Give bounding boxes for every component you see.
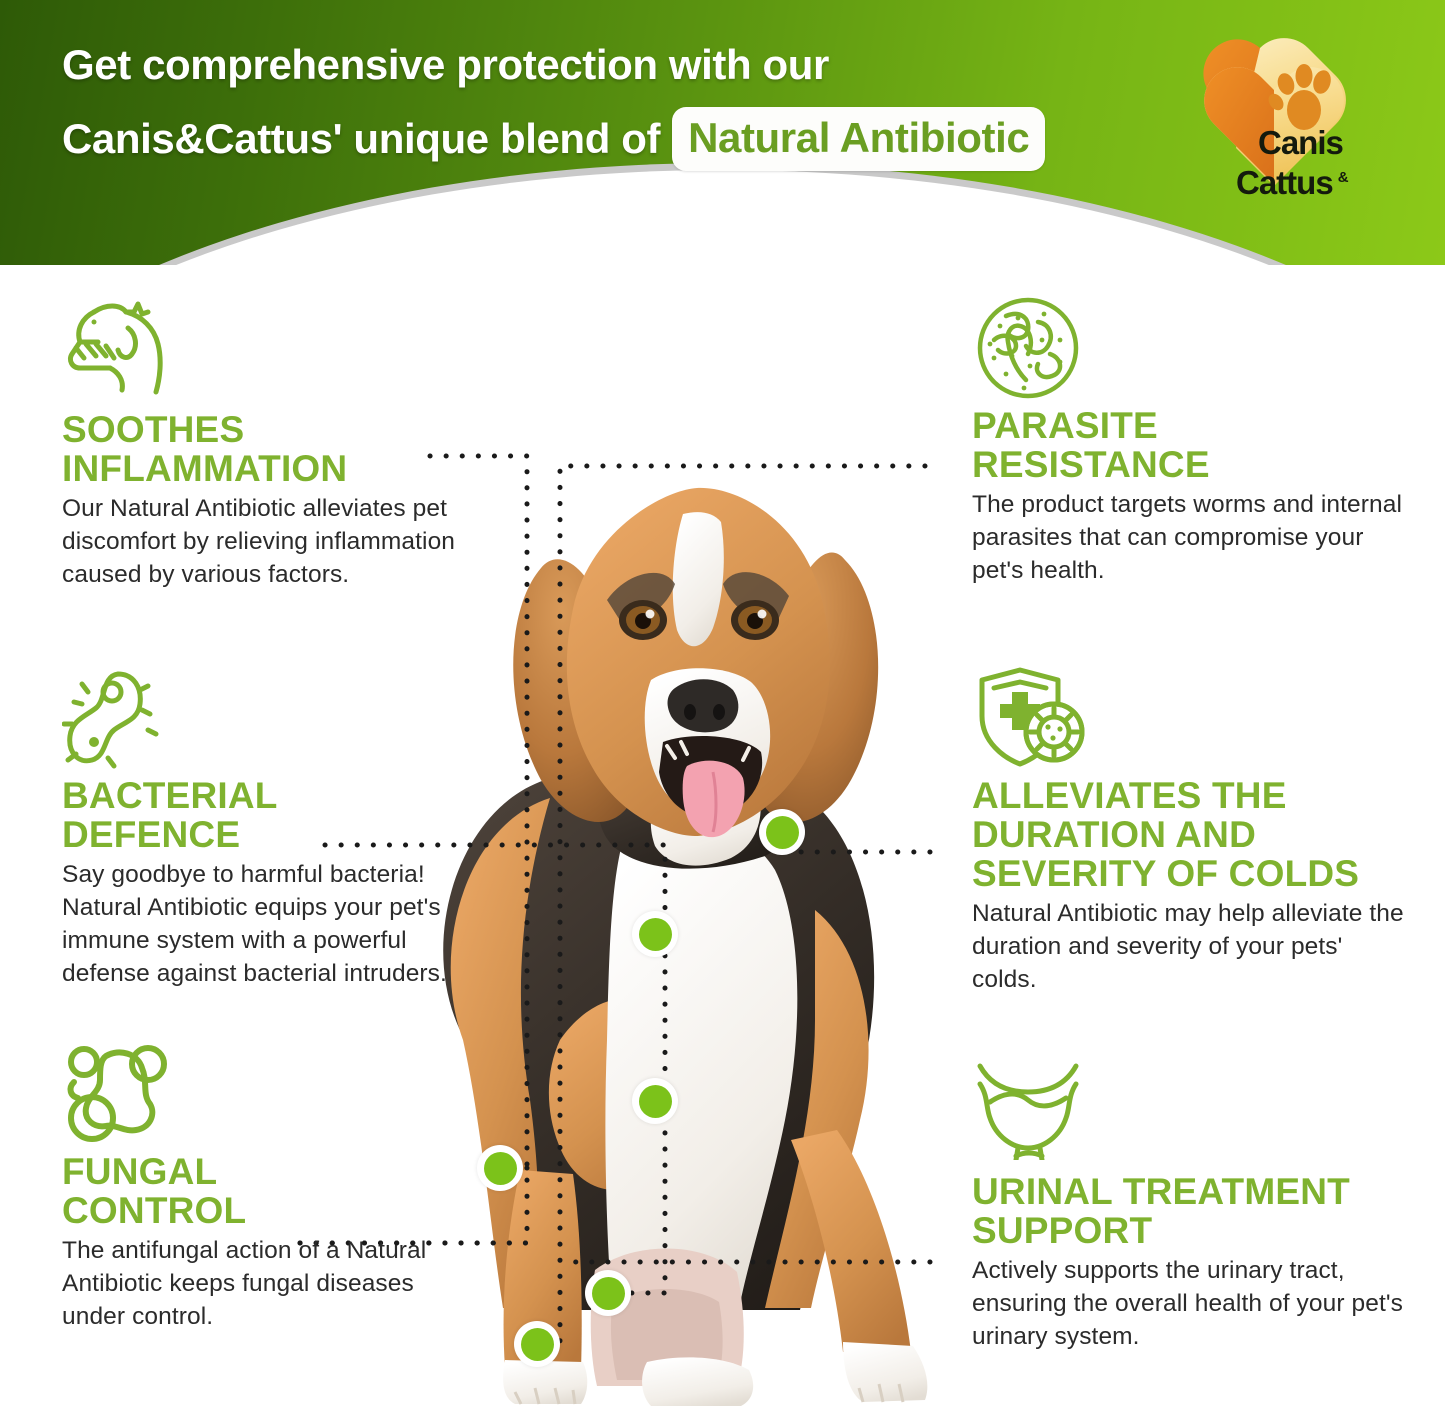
page-title-line-2-prefix: Canis&Cattus' unique blend of [62,102,660,176]
feature-title-line-1: BACTERIAL [62,775,278,816]
feature-title-line-2: INFLAMMATION [62,448,347,489]
marker-dot-core [639,1085,672,1118]
marker-groin [585,1270,631,1316]
brand-name-line-1: Canis [1258,124,1343,161]
marker-dot-core [484,1152,517,1185]
feature-body: The antifungal action of a Natural Antib… [62,1234,462,1333]
marker-dot-core [521,1328,554,1361]
feature-title-line-2: SUPPORT [972,1210,1152,1251]
feature-alleviates-colds: ALLEVIATES THE DURATION AND SEVERITY OF … [972,666,1412,996]
natural-antibiotic-highlight: Natural Antibiotic [672,107,1045,171]
marker-chest-mid [632,911,678,957]
feature-title: PARASITE RESISTANCE [972,406,1412,484]
bacteria-icon [62,666,462,770]
marker-chest-upper [759,809,805,855]
brand-logo-text: Canis Cattus& [1258,126,1433,199]
feature-body: Actively supports the urinary tract, ens… [972,1254,1412,1353]
feature-parasite-resistance: PARASITE RESISTANCE The product targets … [972,296,1412,587]
brand-name-line-2: Cattus [1236,164,1333,201]
marker-dot-core [592,1277,625,1310]
feature-body: Say goodbye to harmful bacteria! Natural… [62,858,462,990]
feature-body: Natural Antibiotic may help alleviate th… [972,897,1412,996]
feature-title-line-2: CONTROL [62,1190,246,1231]
feature-title-line-1: URINAL TREATMENT [972,1171,1350,1212]
marker-dot-core [766,816,799,849]
brand-name-line-2-wrap: Cattus& [1236,161,1433,199]
feature-title-line-3: SEVERITY OF COLDS [972,853,1359,894]
feature-title-line-2: RESISTANCE [972,444,1210,485]
feature-body: Our Natural Antibiotic alleviates pet di… [62,492,462,591]
page-title-line-2: Canis&Cattus' unique blend of Natural An… [62,102,1192,176]
marker-hind-leg [477,1145,523,1191]
feature-bacterial-defence: BACTERIAL DEFENCE Say goodbye to harmful… [62,666,462,990]
marker-dot-core [639,918,672,951]
feature-title: BACTERIAL DEFENCE [62,776,462,854]
feature-title-line-2: DURATION AND [972,814,1256,855]
brand-ampersand: & [1338,169,1348,186]
dog-bandaged-leg-icon [62,300,462,404]
feature-title: FUNGAL CONTROL [62,1152,462,1230]
shield-virus-icon [972,666,1412,770]
marker-paw [514,1321,560,1367]
feature-title-line-2: DEFENCE [62,814,240,855]
feature-body: The product targets worms and internal p… [972,488,1412,587]
feature-urinal-treatment-support: URINAL TREATMENT SUPPORT Actively suppor… [972,1062,1412,1353]
feature-title: ALLEVIATES THE DURATION AND SEVERITY OF … [972,776,1412,893]
header-banner: Get comprehensive protection with our Ca… [0,0,1445,265]
header-title-block: Get comprehensive protection with our Ca… [62,28,1192,176]
feature-title-line-1: PARASITE [972,405,1158,446]
marker-belly [632,1078,678,1124]
feature-title-line-1: FUNGAL [62,1151,217,1192]
feature-fungal-control: FUNGAL CONTROL The antifungal action of … [62,1042,462,1333]
bladder-icon [972,1062,1412,1166]
feature-title: SOOTHES INFLAMMATION [62,410,462,488]
feature-title-line-1: SOOTHES [62,409,244,450]
fungus-cluster-icon [62,1042,462,1146]
feature-title: URINAL TREATMENT SUPPORT [972,1172,1412,1250]
petri-dish-worms-icon [972,296,1412,400]
page-title-line-1: Get comprehensive protection with our [62,28,1192,102]
feature-title-line-1: ALLEVIATES THE [972,775,1287,816]
brand-logo[interactable]: Canis Cattus& [1196,18,1426,208]
feature-soothes-inflammation: SOOTHES INFLAMMATION Our Natural Antibio… [62,300,462,591]
